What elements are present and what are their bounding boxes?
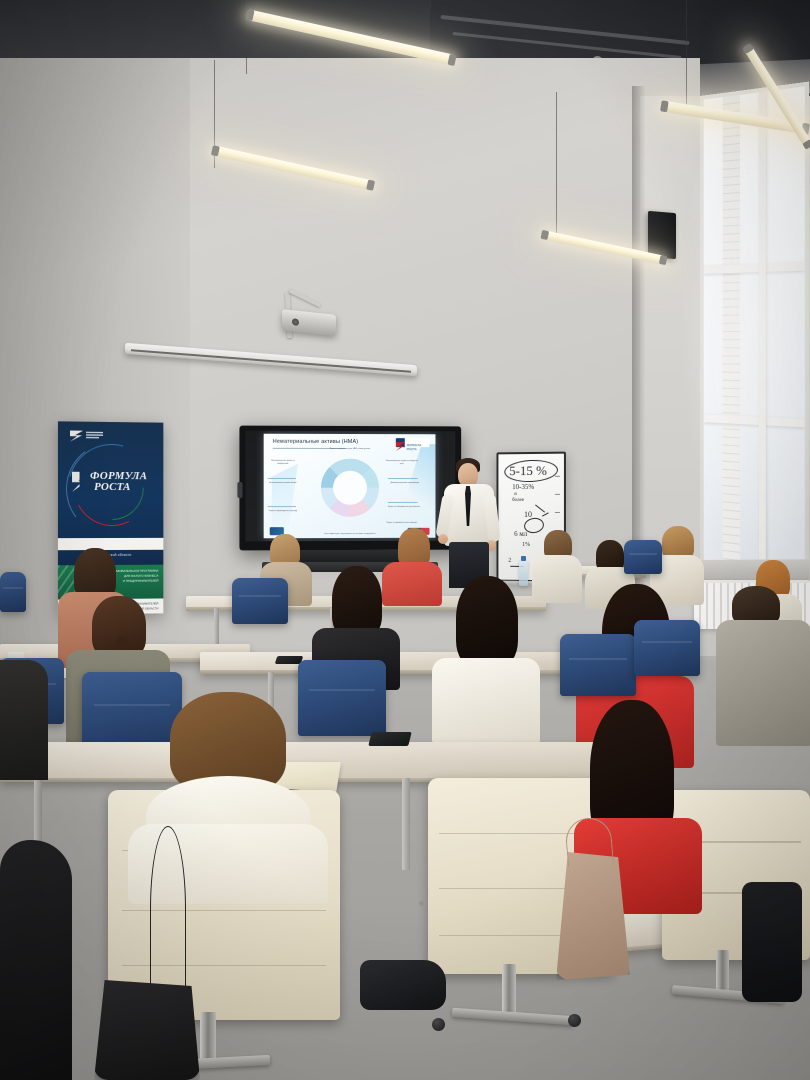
chair-blue-7[interactable] — [232, 578, 288, 624]
whiteboard-arrow — [535, 504, 545, 512]
window-mullion-horizontal — [704, 414, 805, 427]
whiteboard-text-3: и — [514, 492, 517, 497]
slide-title: Нематериальные активы (НМА) — [273, 439, 359, 445]
chair-pole-2 — [502, 964, 516, 1016]
banner-title-line2: РОСТА — [94, 481, 131, 493]
slide-callout-4: Деловая репутация организации — [388, 482, 422, 485]
attendee-torso — [432, 658, 540, 744]
handbag-beige[interactable] — [556, 852, 630, 980]
presentation-slide: Нематериальные активы (НМА) ФОРМУЛА РОСТ… — [264, 434, 436, 539]
slide-callout-2: Права на программы для ЭВМ и базы данных — [326, 448, 374, 451]
chair-blue-5[interactable] — [634, 620, 700, 676]
svg-text:РОСТА: РОСТА — [407, 447, 417, 451]
window-glass — [704, 86, 805, 575]
attendee-16-silhouette — [0, 660, 48, 780]
attendee-legs — [742, 882, 802, 1002]
chair-blue-6[interactable] — [624, 540, 662, 574]
attendee-hair — [92, 596, 146, 658]
attendee-hair-bun — [116, 636, 128, 648]
chair-caster — [568, 1014, 581, 1027]
window-mullion-horizontal — [704, 262, 805, 274]
attendee-torso — [716, 620, 810, 746]
seminar-room-photo: ФОРМУЛА РОСТА formularostani.ru в астрах… — [0, 0, 810, 1080]
shoe — [360, 960, 446, 1010]
whiteboard-text-6: 6 мл — [514, 530, 527, 538]
desk-leg — [402, 778, 410, 870]
slide-footer: Классификация нематериальных активов пре… — [324, 533, 375, 535]
slide-callout-3: Исключительное право на товарный знак — [384, 460, 420, 465]
chair-blue-8[interactable] — [0, 572, 26, 612]
attendee-10 — [432, 576, 542, 738]
light-wire — [686, 0, 687, 112]
whiteboard-text-2: 10-35% — [512, 483, 534, 491]
backpack-strap — [150, 826, 186, 993]
attendee-hair — [456, 576, 518, 668]
whiteboard-text-1: 5-15 % — [509, 463, 547, 479]
whiteboard-text-4: более — [512, 498, 524, 503]
whiteboard-arrow-head — [542, 512, 549, 516]
whiteboard-text-7: 1% — [522, 542, 530, 548]
window — [700, 82, 809, 581]
chair-blue-4[interactable] — [560, 634, 636, 696]
attendee-15-silhouette — [0, 840, 72, 1080]
backpack-black[interactable] — [94, 980, 200, 1080]
display-screen: Нематериальные активы (НМА) ФОРМУЛА РОСТ… — [245, 431, 455, 542]
tablet-device[interactable] — [368, 732, 411, 746]
chair-caster — [432, 1018, 445, 1031]
slide-logo: ФОРМУЛА РОСТА — [396, 438, 430, 447]
slide-callout-5: Секреты производства (ноу-хау) — [268, 510, 298, 513]
window-mullion-vertical — [759, 91, 766, 570]
slide-wave-decoration-left — [272, 464, 298, 534]
presenter — [440, 458, 502, 588]
banner-top-logo — [70, 429, 104, 440]
slide-callout-1: Исключительное право на изобретение — [268, 460, 298, 465]
exterior-brick-wall — [723, 95, 740, 567]
slide-callout-8: Права на промышленные образцы — [382, 522, 422, 525]
slide-callout-7: Исключительное право автора — [268, 482, 298, 485]
chair-pole-3 — [716, 950, 729, 994]
ring-center-hole — [333, 471, 367, 505]
slide-donut-diagram — [321, 459, 379, 517]
slide-callout-6: Права на селекционные достижения — [386, 506, 422, 509]
whiteboard-text-8: 2 — [508, 558, 511, 564]
display-side-button[interactable] — [237, 482, 242, 498]
light-wire — [430, 0, 431, 8]
light-wire — [556, 92, 557, 240]
wall-speaker — [648, 211, 676, 259]
attendee-12 — [716, 586, 810, 744]
attendee-13-hoodie — [118, 692, 334, 852]
